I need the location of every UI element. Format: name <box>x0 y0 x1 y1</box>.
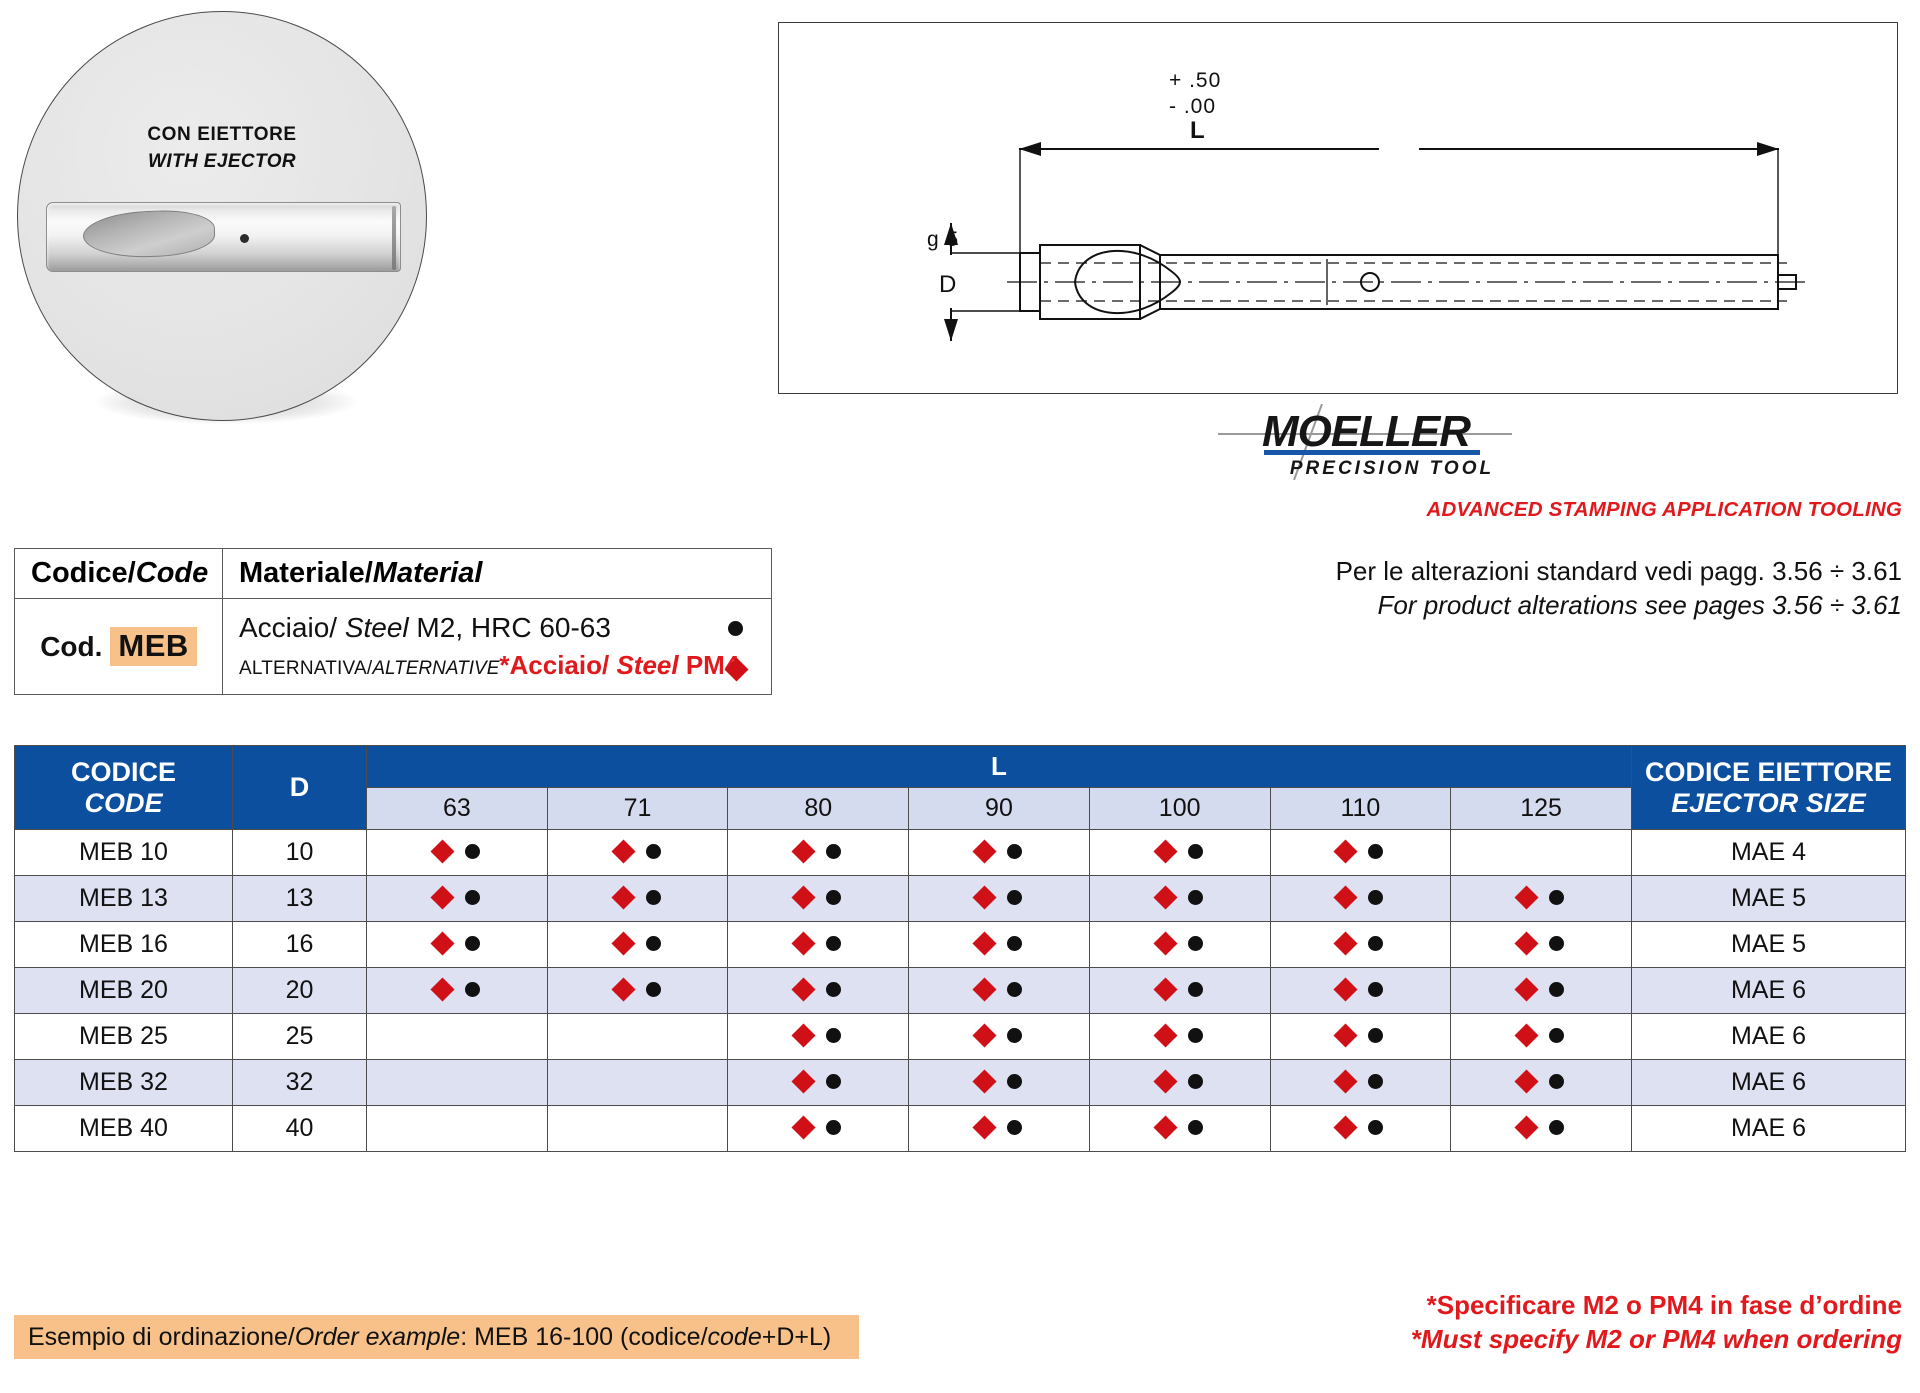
dot-marker-icon <box>1549 1074 1564 1089</box>
dot-marker-icon <box>646 936 661 951</box>
dot-marker-icon <box>1188 844 1203 859</box>
availability-markers <box>1518 981 1564 998</box>
cell-availability-80 <box>728 1106 909 1152</box>
table-row: MEB 2525MAE 6 <box>15 1014 1906 1060</box>
diamond-marker-icon <box>1153 839 1177 863</box>
availability-markers <box>1157 1119 1203 1136</box>
availability-markers <box>1518 1119 1564 1136</box>
cell-availability-100 <box>1089 876 1270 922</box>
diamond-marker-icon <box>1334 1023 1358 1047</box>
diamond-marker-icon <box>1515 977 1539 1001</box>
cell-availability-63 <box>367 1060 548 1106</box>
dot-marker-icon <box>1007 1074 1022 1089</box>
photo-circle: CON EIETTORE WITH EJECTOR <box>17 11 427 421</box>
dot-marker-icon <box>1188 936 1203 951</box>
dot-marker-icon <box>1368 1028 1383 1043</box>
cell-availability-125 <box>1451 1014 1632 1060</box>
cell-availability-110 <box>1270 1106 1451 1152</box>
diamond-marker-icon <box>792 1115 816 1139</box>
cell-diameter: 32 <box>233 1060 367 1106</box>
cell-availability-100 <box>1089 1060 1270 1106</box>
cell-availability-80 <box>728 968 909 1014</box>
table-row: MEB 1010MAE 4 <box>15 830 1906 876</box>
diamond-marker-icon <box>430 931 454 955</box>
dot-marker-icon <box>826 982 841 997</box>
dot-marker-icon <box>465 844 480 859</box>
cell-diameter: 40 <box>233 1106 367 1152</box>
availability-markers <box>795 889 841 906</box>
availability-markers <box>434 935 480 952</box>
cell-ejector-size: MAE 6 <box>1632 968 1906 1014</box>
alt-material-en: Steel <box>616 650 678 680</box>
order-example-bar: Esempio di ordinazione/Order example: ME… <box>14 1315 859 1359</box>
dot-marker-icon <box>465 936 480 951</box>
material-header-code: Codice/Code <box>15 549 223 599</box>
cell-availability-100 <box>1089 922 1270 968</box>
availability-markers <box>1518 889 1564 906</box>
brand-notes: ADVANCED STAMPING APPLICATION TOOLING Pe… <box>1182 498 1902 621</box>
cell-availability-71 <box>547 830 728 876</box>
order-example-tail: +D+L) <box>762 1323 831 1352</box>
diamond-marker-icon <box>1515 885 1539 909</box>
dot-marker-icon <box>1007 1120 1022 1135</box>
cell-availability-125 <box>1451 876 1632 922</box>
dot-marker-icon <box>1007 844 1022 859</box>
cell-availability-125 <box>1451 922 1632 968</box>
technical-drawing-svg <box>779 23 1899 395</box>
moeller-logo: MOELLER PRECISION TOOL <box>1216 404 1516 480</box>
column-header-l-110: 110 <box>1270 788 1451 830</box>
dot-marker-icon <box>826 844 841 859</box>
cell-availability-80 <box>728 922 909 968</box>
order-example-code: code <box>708 1323 762 1352</box>
dot-marker-icon <box>1368 1120 1383 1135</box>
alternative-label-it: ALTERNATIVA/ <box>239 658 372 679</box>
product-dimension-table: CODICE CODE D L CODICE EIETTORE EJECTOR … <box>14 745 1906 1152</box>
dot-marker-icon <box>1368 936 1383 951</box>
punch-body-illustration <box>46 202 401 272</box>
material-table: Codice/Code Materiale/Material Cod. MEB … <box>14 548 772 695</box>
cell-diameter: 20 <box>233 968 367 1014</box>
diamond-marker-icon <box>430 885 454 909</box>
dot-marker-icon <box>1368 1074 1383 1089</box>
material-header-code-it: Codice/ <box>31 557 136 589</box>
diamond-marker-icon <box>972 1023 996 1047</box>
dot-marker-icon <box>1188 1028 1203 1043</box>
cell-availability-63 <box>367 830 548 876</box>
material-standard-en: Steel <box>345 612 409 643</box>
material-alternative-line: ALTERNATIVA/ALTERNATIVE*Acciaio/ Steel P… <box>239 650 761 681</box>
dot-marker-icon <box>646 844 661 859</box>
diamond-marker-icon <box>611 977 635 1001</box>
availability-markers <box>1337 1073 1383 1090</box>
material-header-material: Materiale/Material <box>223 549 772 599</box>
cell-availability-90 <box>909 922 1090 968</box>
diamond-marker-icon <box>1515 1023 1539 1047</box>
cell-diameter: 13 <box>233 876 367 922</box>
alterations-note-en: For product alterations see pages 3.56 ÷… <box>1182 590 1902 621</box>
cell-availability-125 <box>1451 968 1632 1014</box>
dot-marker-icon <box>465 890 480 905</box>
material-header-material-it: Materiale/ <box>239 557 373 589</box>
dot-marker-icon <box>826 936 841 951</box>
cell-code: MEB 25 <box>15 1014 233 1060</box>
cell-availability-125 <box>1451 1060 1632 1106</box>
diamond-marker-icon <box>1515 1069 1539 1093</box>
diamond-marker-icon <box>1153 1023 1177 1047</box>
diamond-marker-icon <box>792 885 816 909</box>
availability-markers <box>434 843 480 860</box>
cell-availability-110 <box>1270 1060 1451 1106</box>
cell-availability-125 <box>1451 1106 1632 1152</box>
cell-diameter: 10 <box>233 830 367 876</box>
cell-availability-100 <box>1089 968 1270 1014</box>
dot-marker-icon <box>1007 936 1022 951</box>
cell-availability-110 <box>1270 876 1451 922</box>
availability-markers <box>795 935 841 952</box>
dot-marker-icon <box>1007 982 1022 997</box>
diamond-marker-icon <box>1334 1069 1358 1093</box>
cell-availability-90 <box>909 968 1090 1014</box>
standard-marker-dot-icon <box>728 621 743 636</box>
availability-markers <box>434 889 480 906</box>
cell-code: MEB 16 <box>15 922 233 968</box>
availability-markers <box>1157 981 1203 998</box>
material-standard-spec: M2, HRC 60-63 <box>409 612 611 643</box>
cell-availability-80 <box>728 1014 909 1060</box>
cell-availability-110 <box>1270 968 1451 1014</box>
order-example-value: : MEB 16-100 (codice/ <box>460 1323 707 1352</box>
material-header-material-en: Material <box>373 557 483 589</box>
column-header-ejector-en: EJECTOR SIZE <box>1632 788 1905 818</box>
cell-availability-110 <box>1270 830 1451 876</box>
cell-availability-100 <box>1089 1014 1270 1060</box>
column-header-d: D <box>233 746 367 830</box>
photo-caption-en: WITH EJECTOR <box>18 151 426 173</box>
column-header-code-en: CODE <box>15 788 232 818</box>
availability-markers <box>976 1073 1022 1090</box>
diamond-marker-icon <box>1334 977 1358 1001</box>
material-standard-line: Acciaio/ Steel M2, HRC 60-63 <box>239 612 761 644</box>
diamond-marker-icon <box>1334 1115 1358 1139</box>
alt-material-it: *Acciaio/ <box>499 650 616 680</box>
moeller-logo-svg: MOELLER PRECISION TOOL <box>1216 404 1516 480</box>
logo-subtitle: PRECISION TOOL <box>1290 458 1494 479</box>
cell-code: MEB 20 <box>15 968 233 1014</box>
column-header-ejector-it: CODICE EIETTORE <box>1645 757 1892 787</box>
warning-it: *Specificare M2 o PM4 in fase d’ordine <box>1122 1290 1902 1321</box>
table-head: CODICE CODE D L CODICE EIETTORE EJECTOR … <box>15 746 1906 830</box>
table-row: MEB 2020MAE 6 <box>15 968 1906 1014</box>
availability-markers <box>434 981 480 998</box>
diamond-marker-icon <box>1153 977 1177 1001</box>
cell-availability-71 <box>547 1060 728 1106</box>
diamond-marker-icon <box>972 931 996 955</box>
cell-availability-110 <box>1270 1014 1451 1060</box>
cell-availability-80 <box>728 1060 909 1106</box>
diamond-marker-icon <box>1153 885 1177 909</box>
availability-markers <box>1337 843 1383 860</box>
diamond-marker-icon <box>972 1069 996 1093</box>
cell-availability-125 <box>1451 830 1632 876</box>
availability-markers <box>976 843 1022 860</box>
diamond-marker-icon <box>972 885 996 909</box>
availability-markers <box>1337 935 1383 952</box>
table-row: MEB 1313MAE 5 <box>15 876 1906 922</box>
diamond-marker-icon <box>972 1115 996 1139</box>
availability-markers <box>795 1073 841 1090</box>
cell-availability-63 <box>367 1014 548 1060</box>
column-header-l-71: 71 <box>547 788 728 830</box>
dot-marker-icon <box>826 1028 841 1043</box>
availability-markers <box>976 1027 1022 1044</box>
availability-markers <box>976 889 1022 906</box>
alterations-note-it: Per le alterazioni standard vedi pagg. 3… <box>1182 556 1902 587</box>
availability-markers <box>615 981 661 998</box>
availability-markers <box>1157 1027 1203 1044</box>
cell-availability-100 <box>1089 830 1270 876</box>
cell-availability-90 <box>909 1106 1090 1152</box>
dot-marker-icon <box>646 890 661 905</box>
dot-marker-icon <box>646 982 661 997</box>
ordering-warning: *Specificare M2 o PM4 in fase d’ordine *… <box>1122 1290 1902 1355</box>
dot-marker-icon <box>1368 844 1383 859</box>
dot-marker-icon <box>826 890 841 905</box>
column-header-l-125: 125 <box>1451 788 1632 830</box>
cell-code: MEB 10 <box>15 830 233 876</box>
material-table-body-row: Cod. MEB Acciaio/ Steel M2, HRC 60-63 AL… <box>15 599 772 695</box>
column-header-l-80: 80 <box>728 788 909 830</box>
cell-availability-80 <box>728 876 909 922</box>
diamond-marker-icon <box>1153 931 1177 955</box>
cell-availability-90 <box>909 830 1090 876</box>
dot-marker-icon <box>1549 890 1564 905</box>
material-header-code-en: Code <box>136 557 209 589</box>
diamond-marker-icon <box>611 885 635 909</box>
column-header-code-it: CODICE <box>71 757 176 787</box>
dot-marker-icon <box>1368 982 1383 997</box>
cell-ejector-size: MAE 4 <box>1632 830 1906 876</box>
catalog-page: CON EIETTORE WITH EJECTOR + .50 - .00 L … <box>0 0 1920 1393</box>
availability-markers <box>795 1119 841 1136</box>
diamond-marker-icon <box>1334 839 1358 863</box>
cell-code: MEB 32 <box>15 1060 233 1106</box>
alternative-label-en: ALTERNATIVE <box>372 658 499 679</box>
availability-markers <box>976 935 1022 952</box>
dot-marker-icon <box>1368 890 1383 905</box>
availability-markers <box>1337 981 1383 998</box>
cell-availability-71 <box>547 1014 728 1060</box>
availability-markers <box>615 889 661 906</box>
dot-marker-icon <box>1549 1028 1564 1043</box>
column-header-code: CODICE CODE <box>15 746 233 830</box>
technical-drawing-box: + .50 - .00 L g 5 D <box>778 22 1898 394</box>
column-header-ejector: CODICE EIETTORE EJECTOR SIZE <box>1632 746 1906 830</box>
cell-availability-63 <box>367 1106 548 1152</box>
logo-wordmark: MOELLER <box>1262 407 1471 456</box>
availability-markers <box>795 1027 841 1044</box>
table-body: MEB 1010MAE 4MEB 1313MAE 5MEB 1616MAE 5M… <box>15 830 1906 1152</box>
availability-markers <box>1518 935 1564 952</box>
availability-markers <box>795 843 841 860</box>
dot-marker-icon <box>1188 1074 1203 1089</box>
column-header-l-group: L <box>367 746 1632 788</box>
dot-marker-icon <box>1549 936 1564 951</box>
availability-markers <box>1518 1027 1564 1044</box>
diamond-marker-icon <box>792 1023 816 1047</box>
cell-diameter: 25 <box>233 1014 367 1060</box>
cell-availability-71 <box>547 876 728 922</box>
cell-availability-90 <box>909 1014 1090 1060</box>
cell-ejector-size: MAE 6 <box>1632 1014 1906 1060</box>
product-photo: CON EIETTORE WITH EJECTOR <box>8 8 438 428</box>
cell-availability-63 <box>367 876 548 922</box>
diamond-marker-icon <box>792 1069 816 1093</box>
availability-markers <box>976 1119 1022 1136</box>
diamond-marker-icon <box>430 839 454 863</box>
cell-availability-63 <box>367 968 548 1014</box>
cell-availability-80 <box>728 830 909 876</box>
availability-markers <box>615 843 661 860</box>
cell-availability-63 <box>367 922 548 968</box>
diamond-marker-icon <box>1153 1069 1177 1093</box>
warning-en: *Must specify M2 or PM4 when ordering <box>1122 1324 1902 1355</box>
punch-ellipse-detail <box>82 209 216 260</box>
dot-marker-icon <box>465 982 480 997</box>
table-row: MEB 4040MAE 6 <box>15 1106 1906 1152</box>
cell-availability-71 <box>547 1106 728 1152</box>
diamond-marker-icon <box>1334 931 1358 955</box>
dot-marker-icon <box>1188 890 1203 905</box>
cell-availability-71 <box>547 922 728 968</box>
diamond-marker-icon <box>1153 1115 1177 1139</box>
cell-ejector-size: MAE 6 <box>1632 1106 1906 1152</box>
dot-marker-icon <box>826 1074 841 1089</box>
diamond-marker-icon <box>611 839 635 863</box>
order-example-en: Order example <box>295 1323 460 1352</box>
diamond-marker-icon <box>1515 1115 1539 1139</box>
cell-code: MEB 40 <box>15 1106 233 1152</box>
cell-availability-100 <box>1089 1106 1270 1152</box>
order-example-it: Esempio di ordinazione/ <box>28 1323 295 1352</box>
availability-markers <box>1157 1073 1203 1090</box>
brand-tagline: ADVANCED STAMPING APPLICATION TOOLING <box>1182 498 1902 522</box>
cell-ejector-size: MAE 6 <box>1632 1060 1906 1106</box>
dot-marker-icon <box>1549 982 1564 997</box>
availability-markers <box>1337 1119 1383 1136</box>
code-value-highlight: MEB <box>110 627 196 666</box>
diamond-marker-icon <box>792 839 816 863</box>
diamond-marker-icon <box>611 931 635 955</box>
cell-ejector-size: MAE 5 <box>1632 922 1906 968</box>
diamond-marker-icon <box>972 977 996 1001</box>
diamond-marker-icon <box>1515 931 1539 955</box>
cell-ejector-size: MAE 5 <box>1632 876 1906 922</box>
cell-availability-90 <box>909 876 1090 922</box>
punch-end-face <box>392 206 396 270</box>
availability-markers <box>1157 889 1203 906</box>
availability-markers <box>1518 1073 1564 1090</box>
dot-marker-icon <box>1549 1120 1564 1135</box>
availability-markers <box>1337 1027 1383 1044</box>
availability-markers <box>976 981 1022 998</box>
dot-marker-icon <box>826 1120 841 1135</box>
column-header-l-100: 100 <box>1089 788 1270 830</box>
diamond-marker-icon <box>430 977 454 1001</box>
diamond-marker-icon <box>1334 885 1358 909</box>
code-line: Cod. MEB <box>15 627 222 666</box>
cell-code: MEB 13 <box>15 876 233 922</box>
diamond-marker-icon <box>792 977 816 1001</box>
availability-markers <box>1337 889 1383 906</box>
dot-marker-icon <box>1188 982 1203 997</box>
photo-caption-it: CON EIETTORE <box>18 124 426 146</box>
column-header-l-63: 63 <box>367 788 548 830</box>
cell-availability-71 <box>547 968 728 1014</box>
material-standard-it: Acciaio/ <box>239 612 345 643</box>
cell-availability-110 <box>1270 922 1451 968</box>
table-row: MEB 1616MAE 5 <box>15 922 1906 968</box>
availability-markers <box>795 981 841 998</box>
table-header-row-1: CODICE CODE D L CODICE EIETTORE EJECTOR … <box>15 746 1906 788</box>
diamond-marker-icon <box>792 931 816 955</box>
dot-marker-icon <box>1007 890 1022 905</box>
cell-diameter: 16 <box>233 922 367 968</box>
dot-marker-icon <box>1188 1120 1203 1135</box>
dot-marker-icon <box>1007 1028 1022 1043</box>
column-header-l-90: 90 <box>909 788 1090 830</box>
material-code-cell: Cod. MEB <box>15 599 223 695</box>
material-table-header-row: Codice/Code Materiale/Material <box>15 549 772 599</box>
table-row: MEB 3232MAE 6 <box>15 1060 1906 1106</box>
material-spec-cell: Acciaio/ Steel M2, HRC 60-63 ALTERNATIVA… <box>223 599 772 695</box>
diamond-marker-icon <box>972 839 996 863</box>
code-prefix: Cod. <box>40 631 102 663</box>
availability-markers <box>1157 935 1203 952</box>
availability-markers <box>1157 843 1203 860</box>
cell-availability-90 <box>909 1060 1090 1106</box>
punch-ejector-hole <box>240 234 249 243</box>
availability-markers <box>615 935 661 952</box>
